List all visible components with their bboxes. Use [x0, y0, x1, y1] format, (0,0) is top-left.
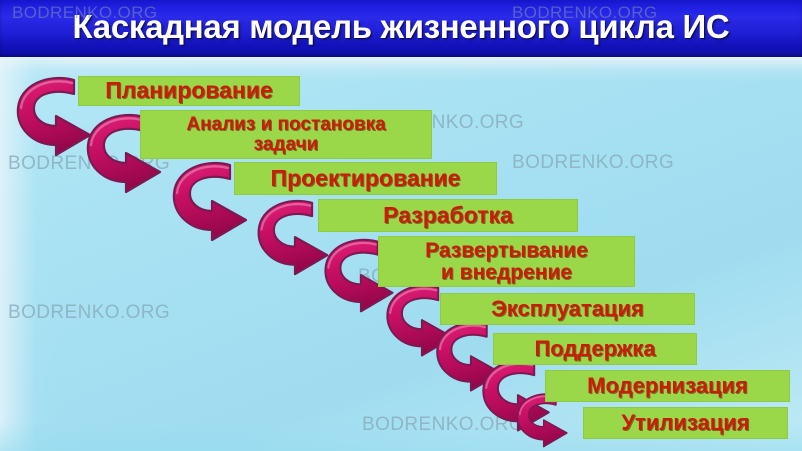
stage-box-label-line: Эксплуатация [491, 298, 644, 321]
stage-box-1[interactable]: Планирование [78, 76, 300, 106]
stage-box-label: Разработка [383, 204, 513, 228]
stage-box-label-line: Утилизация [621, 412, 749, 435]
stage-box-label: Эксплуатация [491, 298, 644, 321]
stage-box-5[interactable]: Развертываниеи внедрение [378, 236, 635, 287]
stage-box-label: Модернизация [587, 375, 748, 398]
stage-box-label-line: Модернизация [587, 375, 748, 398]
stage-box-label-line: Планирование [105, 79, 273, 103]
stage-box-label-line: и внедрение [425, 262, 588, 284]
stage-box-4[interactable]: Разработка [318, 199, 578, 232]
slide-canvas: BODRENKO.ORGBODRENKO.ORGBODRENKO.ORGBODR… [0, 0, 802, 451]
stage-box-9[interactable]: Утилизация [583, 407, 788, 439]
stage-box-label-line: задачи [186, 135, 385, 155]
stage-box-label: Развертываниеи внедрение [425, 240, 588, 284]
stage-box-2[interactable]: Анализ и постановказадачи [140, 110, 432, 159]
stage-box-3[interactable]: Проектирование [234, 162, 497, 195]
watermark: BODRENKO.ORG [512, 152, 674, 174]
stage-box-7[interactable]: Поддержка [493, 333, 697, 365]
stage-box-6[interactable]: Эксплуатация [440, 293, 695, 325]
stage-box-label-line: Разработка [383, 204, 513, 228]
stage-box-8[interactable]: Модернизация [545, 370, 790, 402]
watermark: BODRENKO.ORG [8, 302, 170, 324]
stage-box-label: Проектирование [271, 167, 461, 191]
stage-box-label-line: Развертывание [425, 240, 588, 262]
watermark: BODRENKO.ORG [512, 3, 658, 23]
stage-box-label: Поддержка [534, 338, 655, 361]
stage-box-label: Планирование [105, 79, 273, 103]
stage-box-label: Анализ и постановказадачи [186, 115, 385, 155]
watermark: BODRENKO.ORG [12, 3, 158, 23]
stage-box-label-line: Проектирование [271, 167, 461, 191]
stage-box-label-line: Поддержка [534, 338, 655, 361]
stage-box-label-line: Анализ и постановка [186, 115, 385, 135]
stage-box-label: Утилизация [621, 412, 749, 435]
